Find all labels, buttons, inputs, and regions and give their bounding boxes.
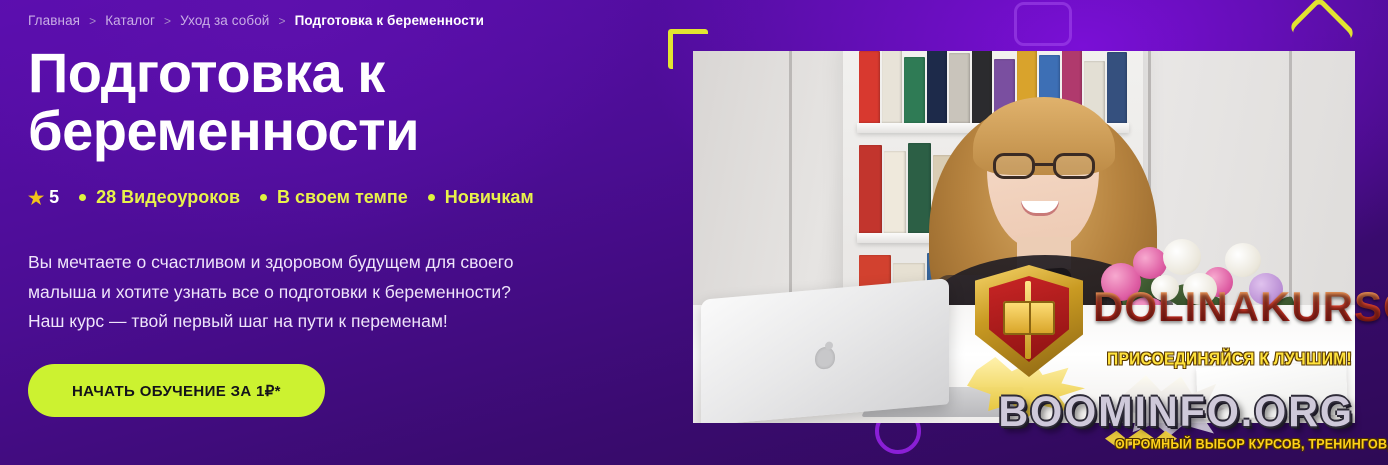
meta-item-lessons: 28 Видеоуроков	[96, 187, 240, 208]
laptop-lid	[701, 278, 949, 423]
bullet-dot-icon	[260, 194, 267, 201]
breadcrumb-separator-icon: >	[164, 14, 171, 28]
breadcrumb-item-current: Подготовка к беременности	[295, 13, 484, 28]
breadcrumb-item-catalog[interactable]: Каталог	[105, 13, 155, 28]
page-title: Подготовка к беременности	[28, 44, 498, 159]
breadcrumb-separator-icon: >	[278, 14, 285, 28]
breadcrumb-item-home[interactable]: Главная	[28, 13, 80, 28]
watermark-boominfo: BOOMINFO.ORG ОГРОМНЫЙ ВЫБОР КУРСОВ, ТРЕН…	[965, 386, 1385, 460]
rating-value: 5	[49, 187, 59, 208]
meta-item-pace: В своем темпе	[277, 187, 408, 208]
bullet-dot-icon	[428, 194, 435, 201]
book-icon	[1003, 301, 1055, 335]
watermark-brand-text: BOOMINFO.ORG	[998, 388, 1354, 437]
glasses-bridge	[1035, 163, 1053, 166]
start-learning-button[interactable]: НАЧАТЬ ОБУЧЕНИЕ ЗА 1₽*	[28, 364, 325, 417]
watermark-tagline: ПРИСОЕДИНЯЙСЯ К ЛУЧШИМ!	[1107, 350, 1352, 370]
star-icon: ★	[28, 189, 44, 207]
hero-left-column: Главная > Каталог > Уход за собой > Подг…	[28, 0, 628, 465]
course-meta-row: ★ 5 28 Видеоуроков В своем темпе Новичка…	[28, 187, 628, 208]
breadcrumb-item-selfcare[interactable]: Уход за собой	[180, 13, 269, 28]
laptop	[701, 278, 949, 423]
course-hero-banner: Главная > Каталог > Уход за собой > Подг…	[0, 0, 1388, 465]
watermark-brand-text: DOLINAKURSOV	[1093, 283, 1388, 331]
glasses-lens-left	[993, 153, 1035, 179]
bullet-dot-icon	[79, 194, 86, 201]
breadcrumb-separator-icon: >	[89, 14, 96, 28]
watermark-dolinakursov: DOLINAKURSOV ПРИСОЕДИНЯЙСЯ К ЛУЧШИМ!	[975, 265, 1383, 383]
glasses-icon	[993, 153, 1095, 179]
course-description: Вы мечтаете о счастливом и здоровом буду…	[28, 248, 548, 336]
triangle-outline-decoration	[1014, 2, 1072, 46]
breadcrumb: Главная > Каталог > Уход за собой > Подг…	[28, 13, 628, 28]
glasses-lens-right	[1053, 153, 1095, 179]
meta-item-level: Новичкам	[445, 187, 534, 208]
watermark-tagline: ОГРОМНЫЙ ВЫБОР КУРСОВ, ТРЕНИНГОВ, КНИГ	[1115, 436, 1388, 451]
apple-logo-icon	[815, 346, 835, 370]
